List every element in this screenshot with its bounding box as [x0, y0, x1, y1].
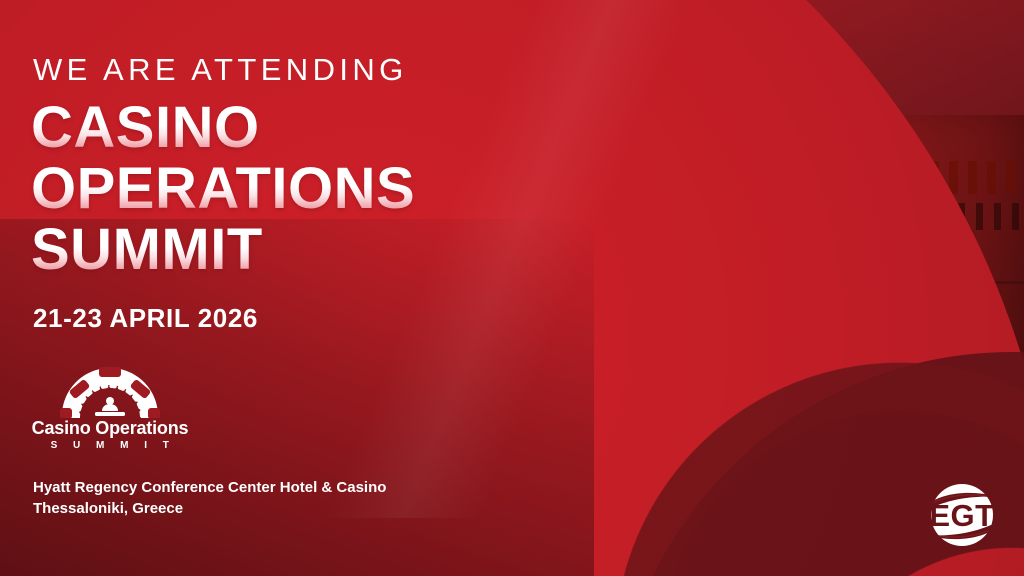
event-logo: Casino Operations S U M M I T	[30, 366, 190, 451]
event-logo-subtitle: S U M M I T	[30, 440, 190, 451]
event-logo-name: Casino Operations	[30, 419, 190, 438]
event-title: CASINO OPERATIONS SUMMIT	[31, 100, 415, 277]
casino-chip-arc-icon	[52, 366, 168, 418]
title-line-1: CASINO	[31, 100, 415, 155]
title-line-2: OPERATIONS	[31, 161, 415, 216]
venue-info: Hyatt Regency Conference Center Hotel & …	[33, 477, 386, 520]
event-dates: 21-23 APRIL 2026	[33, 303, 258, 334]
event-announcement-banner: WE ARE ATTENDING CASINO OPERATIONS SUMMI…	[0, 0, 1024, 576]
egt-logo: EGT	[923, 476, 1001, 554]
venue-name: Hyatt Regency Conference Center Hotel & …	[33, 477, 386, 498]
content-layer: WE ARE ATTENDING CASINO OPERATIONS SUMMI…	[0, 0, 1024, 576]
venue-city: Thessaloniki, Greece	[33, 498, 386, 519]
kicker-text: WE ARE ATTENDING	[33, 54, 408, 85]
title-line-3: SUMMIT	[31, 222, 415, 277]
